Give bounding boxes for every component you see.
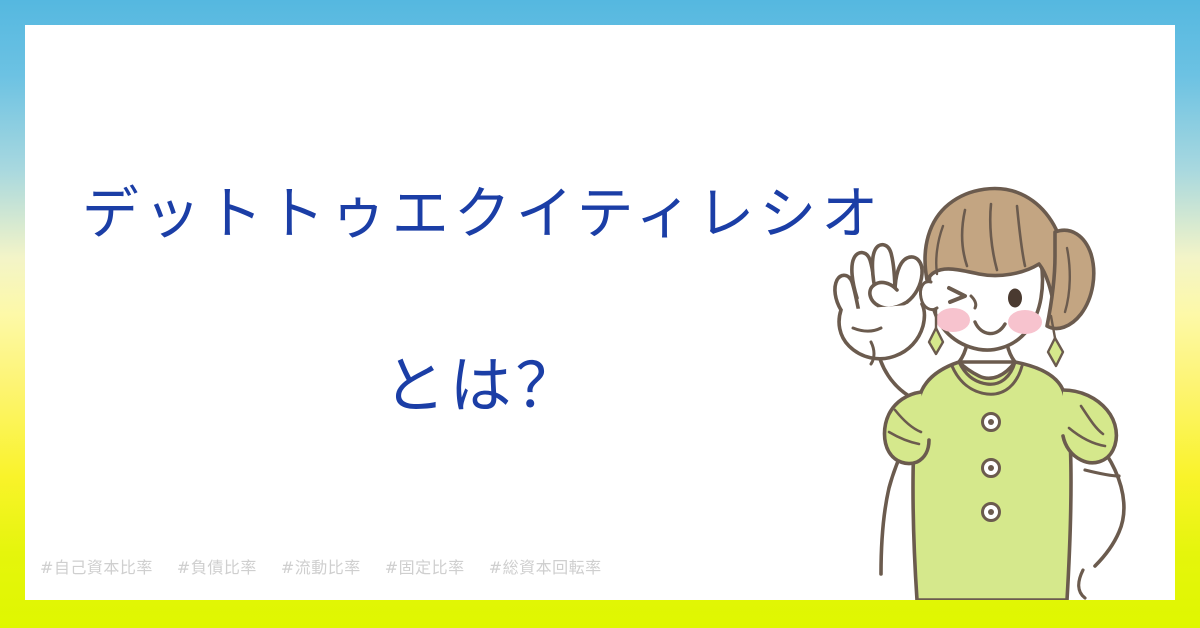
hashtag-item[interactable]: #自己資本比率 — [40, 554, 153, 578]
headline-block: デットトゥエクイティレシオ とは？ — [25, 25, 925, 445]
hashtag-item[interactable]: #固定比率 — [385, 554, 465, 578]
banner-frame: デットトゥエクイティレシオ とは？ #自己資本比率 #負債比率 #流動比率 #固… — [0, 0, 1200, 628]
page-title: デットトゥエクイティレシオ — [55, 168, 910, 250]
hashtag-row: #自己資本比率 #負債比率 #流動比率 #固定比率 #総資本回転率 — [40, 554, 602, 578]
hashtag-item[interactable]: #負債比率 — [177, 554, 257, 578]
hashtag-item[interactable]: #流動比率 — [281, 554, 361, 578]
white-content-card: デットトゥエクイティレシオ とは？ #自己資本比率 #負債比率 #流動比率 #固… — [25, 25, 1175, 600]
woman-ok-gesture-illustration — [819, 170, 1175, 600]
hashtag-item[interactable]: #総資本回転率 — [489, 554, 602, 578]
page-subtitle: とは？ — [55, 335, 910, 425]
